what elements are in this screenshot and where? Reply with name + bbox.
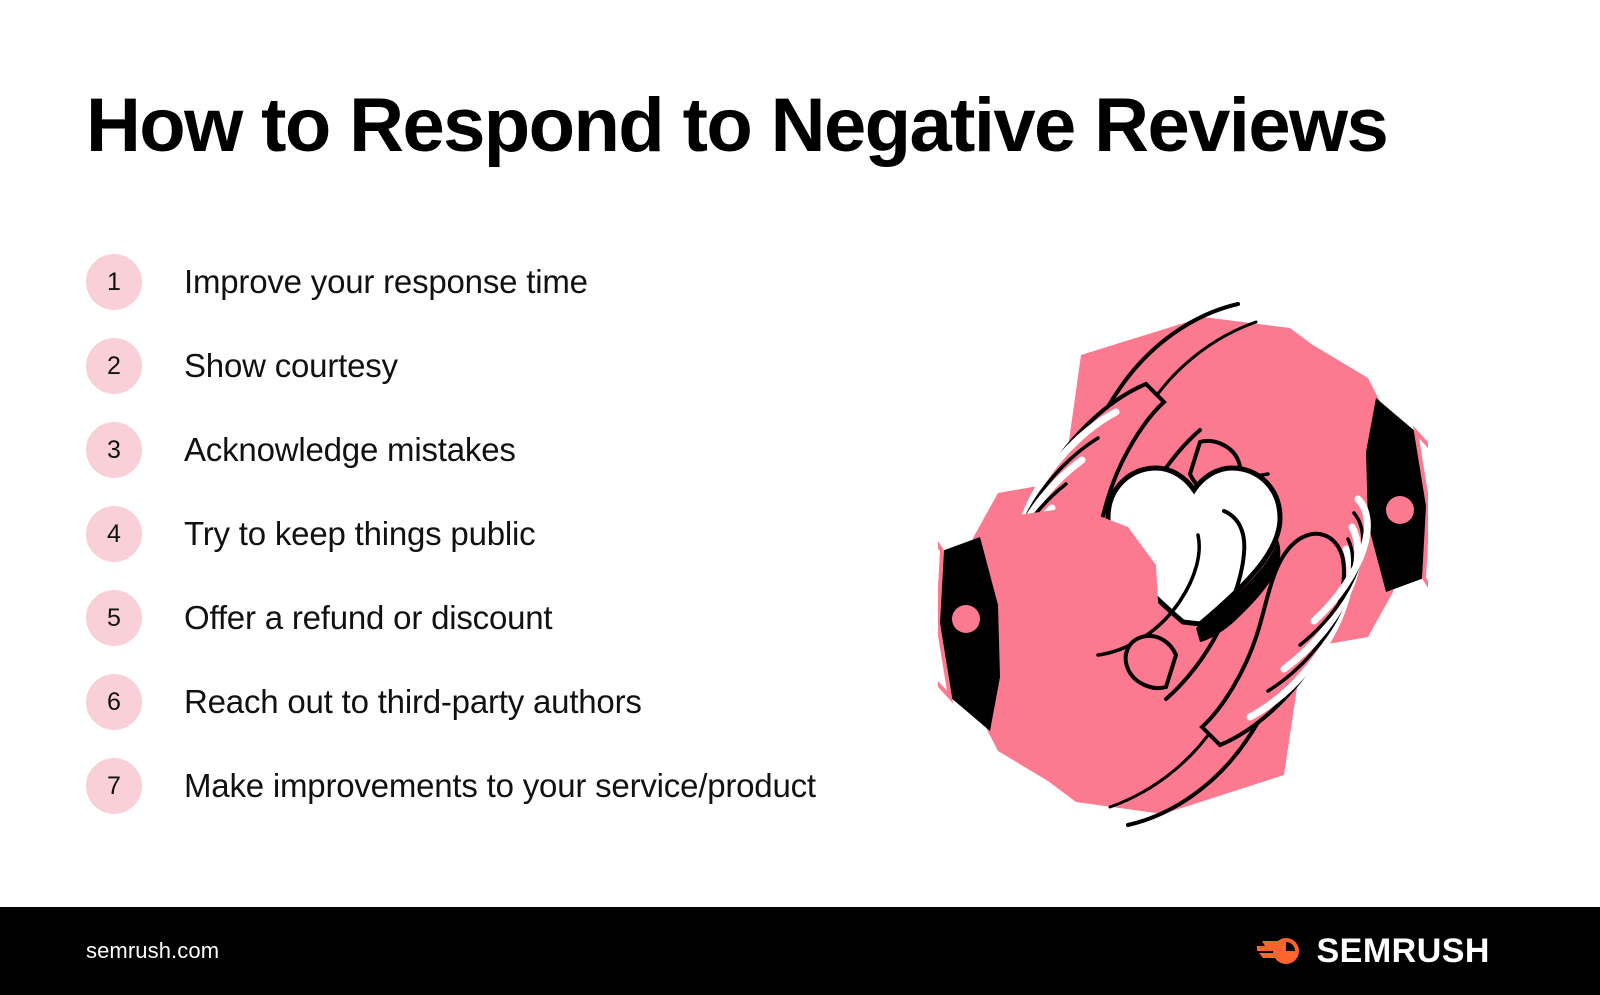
- list-item: 1 Improve your response time: [86, 240, 986, 324]
- step-number-badge: 5: [86, 590, 142, 646]
- step-number: 7: [107, 774, 121, 799]
- list-item: 6 Reach out to third-party authors: [86, 660, 986, 744]
- semrush-logo[interactable]: SEMRUSH: [1256, 934, 1490, 968]
- step-number: 1: [107, 270, 121, 295]
- page-title: How to Respond to Negative Reviews: [86, 84, 1506, 168]
- step-label: Improve your response time: [184, 264, 588, 300]
- step-number: 5: [107, 606, 121, 631]
- footer-bar: semrush.com SEMRUSH: [0, 907, 1600, 995]
- list-item: 4 Try to keep things public: [86, 492, 986, 576]
- step-number-badge: 4: [86, 506, 142, 562]
- step-label: Try to keep things public: [184, 516, 535, 552]
- step-number: 3: [107, 438, 121, 463]
- steps-list: 1 Improve your response time 2 Show cour…: [86, 240, 986, 828]
- step-label: Acknowledge mistakes: [184, 432, 516, 468]
- list-item: 7 Make improvements to your service/prod…: [86, 744, 986, 828]
- step-number-badge: 1: [86, 254, 142, 310]
- step-number-badge: 6: [86, 674, 142, 730]
- step-label: Reach out to third-party authors: [184, 684, 642, 720]
- step-number-badge: 7: [86, 758, 142, 814]
- list-item: 3 Acknowledge mistakes: [86, 408, 986, 492]
- step-label: Make improvements to your service/produc…: [184, 768, 816, 804]
- step-number: 2: [107, 354, 121, 379]
- step-number-badge: 2: [86, 338, 142, 394]
- step-number: 6: [107, 690, 121, 715]
- upper-cuff-button: [1386, 496, 1414, 524]
- semrush-wordmark: SEMRUSH: [1316, 934, 1490, 968]
- hands-holding-heart-illustration: [938, 292, 1428, 837]
- step-label: Show courtesy: [184, 348, 398, 384]
- step-number-badge: 3: [86, 422, 142, 478]
- footer-url[interactable]: semrush.com: [86, 938, 219, 964]
- semrush-comet-icon: [1256, 934, 1302, 968]
- step-label: Offer a refund or discount: [184, 600, 552, 636]
- lower-cuff-button: [952, 605, 980, 633]
- infographic-canvas: How to Respond to Negative Reviews 1 Imp…: [0, 0, 1600, 995]
- step-number: 4: [107, 522, 121, 547]
- list-item: 2 Show courtesy: [86, 324, 986, 408]
- list-item: 5 Offer a refund or discount: [86, 576, 986, 660]
